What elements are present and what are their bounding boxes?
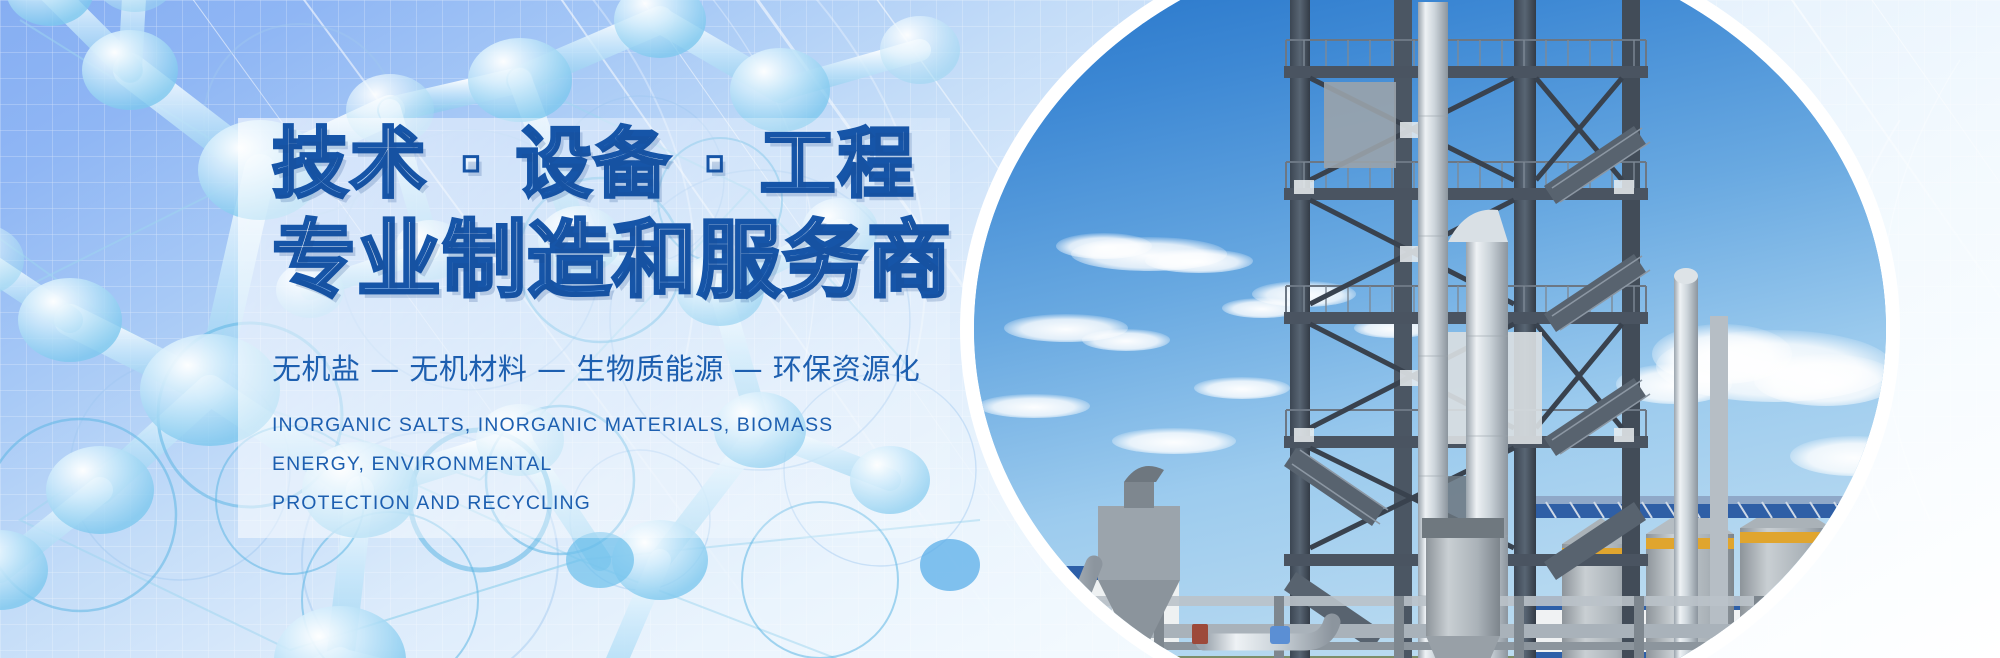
photo-circle-icon (960, 0, 1900, 658)
banner-text-block: 技术 · 设备 · 工程 专业制造和服务商 无机盐 — 无机材料 — 生物质能源… (272, 124, 1032, 523)
hero-banner: 技术 · 设备 · 工程 专业制造和服务商 无机盐 — 无机材料 — 生物质能源… (0, 0, 2000, 658)
industrial-plant-photo (974, 0, 1886, 658)
subtitle-english-line-2: PROTECTION AND RECYCLING (272, 484, 932, 523)
headline-line-1: 技术 · 设备 · 工程 (272, 124, 1032, 204)
subtitle-english: INORGANIC SALTS, INORGANIC MATERIALS, BI… (272, 406, 932, 523)
headline-line-2: 专业制造和服务商 (272, 216, 1032, 304)
subtitle-english-line-1: INORGANIC SALTS, INORGANIC MATERIALS, BI… (272, 406, 932, 484)
photo-clip (974, 0, 1886, 658)
subtitle-chinese: 无机盐 — 无机材料 — 生物质能源 — 环保资源化 (272, 346, 1032, 388)
